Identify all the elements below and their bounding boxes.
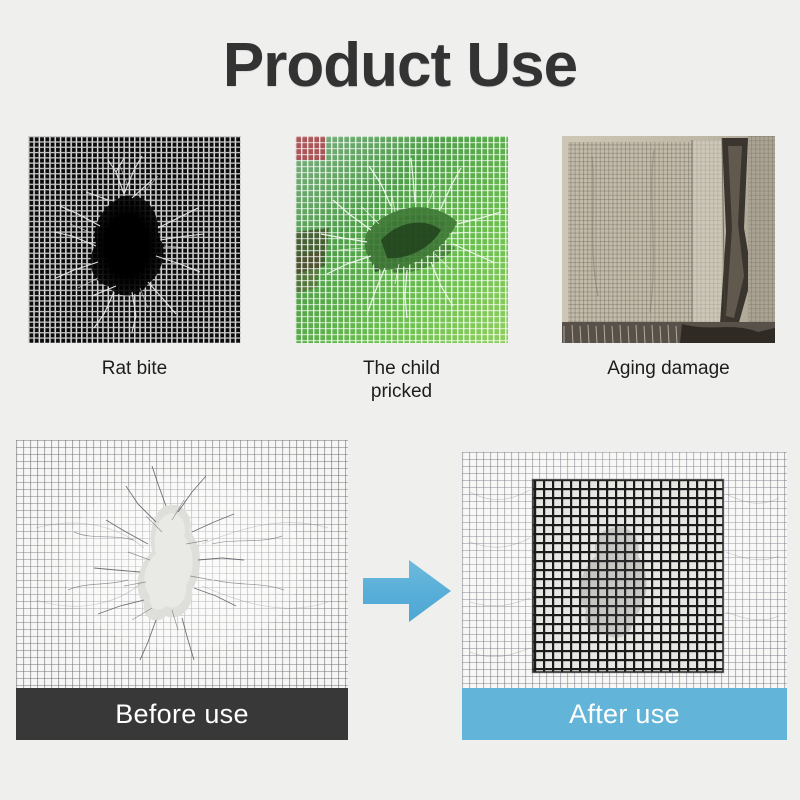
damage-photo-child-pricked	[295, 136, 508, 343]
green-mesh-texture-icon	[295, 136, 508, 343]
dark-mesh-texture-icon	[28, 136, 241, 343]
panel-before-use[interactable]: Before use	[16, 440, 348, 740]
patched-screen-texture-icon	[462, 452, 787, 688]
label-after-use: After use	[569, 699, 680, 730]
torn-screen-texture-icon	[16, 440, 348, 688]
damage-caption-aging-damage: Aging damage	[562, 357, 775, 380]
damage-photo-rat-bite	[28, 136, 241, 343]
photo-before-use	[16, 440, 348, 688]
label-before-use: Before use	[115, 699, 249, 730]
damage-example-child-pricked[interactable]: The child pricked	[295, 136, 508, 403]
banner-before-use: Before use	[16, 688, 348, 740]
tan-mesh-texture-icon	[562, 136, 775, 343]
arrow-right-icon	[363, 556, 451, 626]
photo-after-use	[462, 452, 787, 688]
damage-caption-child-pricked: The child pricked	[295, 357, 508, 403]
damage-example-rat-bite[interactable]: Rat bite	[28, 136, 241, 380]
damage-example-aging-damage[interactable]: Aging damage	[562, 136, 775, 380]
page-title: Product Use	[0, 30, 800, 102]
banner-after-use: After use	[462, 688, 787, 740]
panel-after-use[interactable]: After use	[462, 452, 787, 740]
damage-examples-row: Rat bite	[0, 136, 800, 406]
damage-caption-rat-bite: Rat bite	[28, 357, 241, 380]
damage-photo-aging-damage	[562, 136, 775, 343]
